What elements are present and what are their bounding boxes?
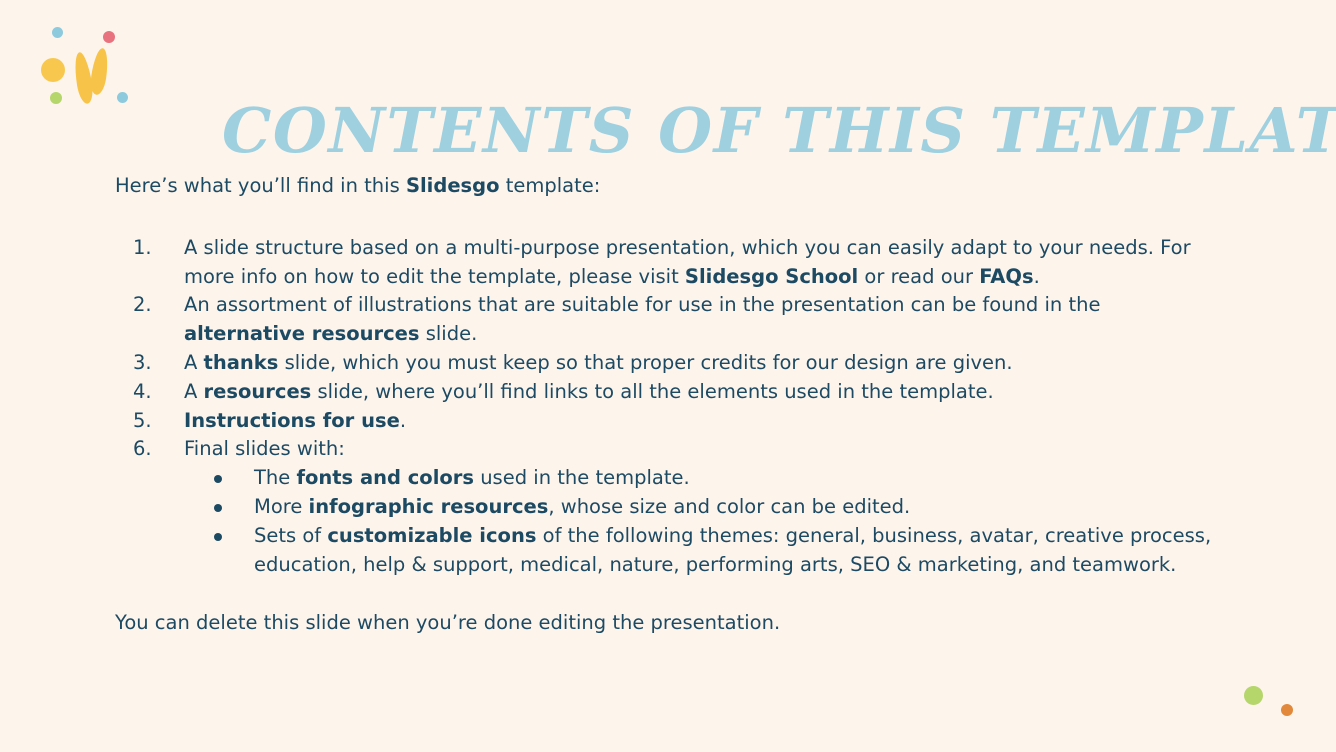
list-item-marker: 2. <box>133 291 163 320</box>
list-item-marker: 6. <box>133 435 163 464</box>
bullet-icon <box>214 533 222 541</box>
list-item-4-seg-1: . <box>400 409 406 432</box>
outro-paragraph: You can delete this slide when you’re do… <box>115 609 1225 638</box>
list-item-text: Final slides with: <box>184 437 345 460</box>
list-item: 6.Final slides with:The fonts and colors… <box>115 435 1225 579</box>
red-dot-small <box>103 31 115 43</box>
sub-item-0-seg-1-bold: fonts and colors <box>296 466 474 489</box>
contents-sub-list: The fonts and colors used in the templat… <box>184 464 1225 579</box>
blue-dot-small-right <box>117 92 128 103</box>
bullet-icon <box>214 475 222 483</box>
list-item-1-seg-2: slide. <box>420 322 478 345</box>
list-item-1-seg-0: An assortment of illustrations that are … <box>184 293 1101 316</box>
sub-item-1-seg-0: More <box>254 495 309 518</box>
list-item-2-seg-1-bold: thanks <box>204 351 279 374</box>
list-item-3-seg-1-bold: resources <box>204 380 312 403</box>
page-title: CONTENTS OF THIS TEMPLATE <box>222 100 1336 162</box>
list-item-text: A slide structure based on a multi-purpo… <box>184 236 1191 288</box>
sub-item-0-seg-2: used in the template. <box>474 466 690 489</box>
sub-list-item-text: Sets of customizable icons of the follow… <box>254 524 1211 576</box>
yellow-petal-right <box>89 47 110 96</box>
list-item-text: An assortment of illustrations that are … <box>184 293 1101 345</box>
sub-item-2-seg-1-bold: customizable icons <box>327 524 536 547</box>
bullet-icon <box>214 504 222 512</box>
list-item-3-seg-2: slide, where you’ll find links to all th… <box>311 380 993 403</box>
list-item-5-seg-0: Final slides with: <box>184 437 345 460</box>
blue-dot-small-top <box>52 27 63 38</box>
list-item-0-seg-3-bold: FAQs <box>979 265 1033 288</box>
sub-list-item-text: The fonts and colors used in the templat… <box>254 466 690 489</box>
sub-item-1-seg-2: , whose size and color can be edited. <box>548 495 910 518</box>
intro-paragraph: Here’s what you’ll find in this Slidesgo… <box>115 172 1225 201</box>
list-item-marker: 5. <box>133 407 163 436</box>
list-item-marker: 1. <box>133 234 163 263</box>
yellow-dot-large <box>41 58 65 82</box>
sub-list-item: More infographic resources, whose size a… <box>184 493 1225 522</box>
sub-list-item: Sets of customizable icons of the follow… <box>184 522 1225 580</box>
list-item-marker: 4. <box>133 378 163 407</box>
intro-bold-slidesgo: Slidesgo <box>406 174 500 197</box>
list-item-1-seg-1-bold: alternative resources <box>184 322 420 345</box>
list-item-2-seg-2: slide, which you must keep so that prope… <box>278 351 1012 374</box>
list-item-marker: 3. <box>133 349 163 378</box>
list-item-2-seg-0: A <box>184 351 204 374</box>
list-item: 1.A slide structure based on a multi-pur… <box>115 234 1225 292</box>
sub-item-2-seg-0: Sets of <box>254 524 327 547</box>
list-item: 5.Instructions for use. <box>115 407 1225 436</box>
decoration-cluster-top-left <box>30 18 160 118</box>
list-item-text: A resources slide, where you’ll find lin… <box>184 380 994 403</box>
orange-dot-bottom <box>1281 704 1293 716</box>
list-item-text: A thanks slide, which you must keep so t… <box>184 351 1013 374</box>
list-item-3-seg-0: A <box>184 380 204 403</box>
slide-body: Here’s what you’ll find in this Slidesgo… <box>115 172 1225 638</box>
green-dot-bottom <box>1244 686 1263 705</box>
list-item-4-seg-0-bold: Instructions for use <box>184 409 400 432</box>
sub-list-item-text: More infographic resources, whose size a… <box>254 495 910 518</box>
intro-text-part2: template: <box>500 174 601 197</box>
intro-text-part1: Here’s what you’ll find in this <box>115 174 406 197</box>
list-item-0-seg-4: . <box>1034 265 1040 288</box>
list-item-text: Instructions for use. <box>184 409 406 432</box>
list-item: 3.A thanks slide, which you must keep so… <box>115 349 1225 378</box>
list-item-0-seg-1-bold: Slidesgo School <box>685 265 858 288</box>
sub-item-1-seg-1-bold: infographic resources <box>309 495 549 518</box>
sub-item-0-seg-0: The <box>254 466 296 489</box>
contents-numbered-list: 1.A slide structure based on a multi-pur… <box>115 234 1225 580</box>
green-dot-small <box>50 92 62 104</box>
slide-canvas: CONTENTS OF THIS TEMPLATE Here’s what yo… <box>0 0 1336 752</box>
sub-list-item: The fonts and colors used in the templat… <box>184 464 1225 493</box>
list-item: 4.A resources slide, where you’ll find l… <box>115 378 1225 407</box>
list-item: 2.An assortment of illustrations that ar… <box>115 291 1225 349</box>
list-item-0-seg-2: or read our <box>858 265 979 288</box>
